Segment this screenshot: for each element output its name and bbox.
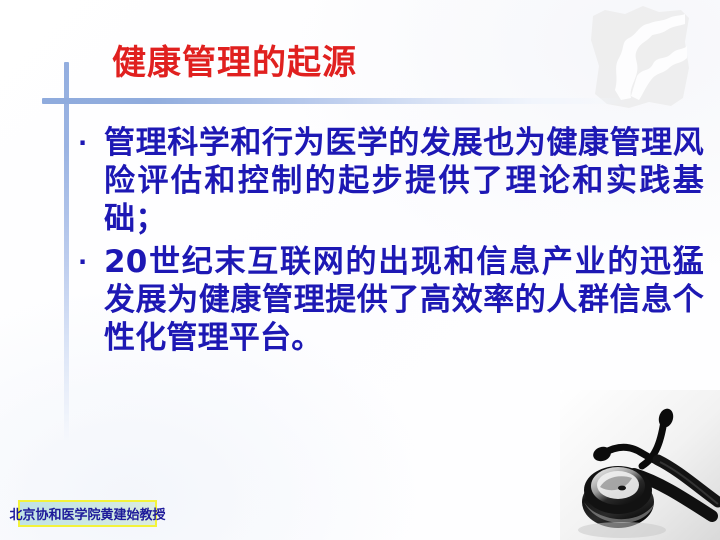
- stethoscope-photo: [560, 390, 720, 540]
- bullet-list: · 管理科学和行为医学的发展也为健康管理风险评估和控制的起步提供了理论和实践基础…: [78, 124, 704, 357]
- footer-credit: 北京协和医学院黄建始教授: [18, 500, 157, 527]
- bullet-dot-icon: ·: [78, 243, 104, 281]
- list-item: · 20世纪末互联网的出现和信息产业的迅猛发展为健康管理提供了高效率的人群信息个…: [78, 243, 704, 357]
- slide-canvas: 健康管理的起源 · 管理科学和行为医学的发展也为健康管理风险评估和控制的起步提供…: [0, 0, 720, 540]
- slide-title: 健康管理的起源: [112, 44, 357, 82]
- horizontal-accent-rule: [42, 98, 627, 104]
- bullet-text: 管理科学和行为医学的发展也为健康管理风险评估和控制的起步提供了理论和实践基础；: [104, 124, 704, 238]
- bullet-text: 20世纪末互联网的出现和信息产业的迅猛发展为健康管理提供了高效率的人群信息个性化…: [104, 243, 704, 357]
- vertical-accent-rule: [64, 62, 69, 444]
- bullet-dot-icon: ·: [78, 124, 104, 162]
- list-item: · 管理科学和行为医学的发展也为健康管理风险评估和控制的起步提供了理论和实践基础…: [78, 124, 704, 238]
